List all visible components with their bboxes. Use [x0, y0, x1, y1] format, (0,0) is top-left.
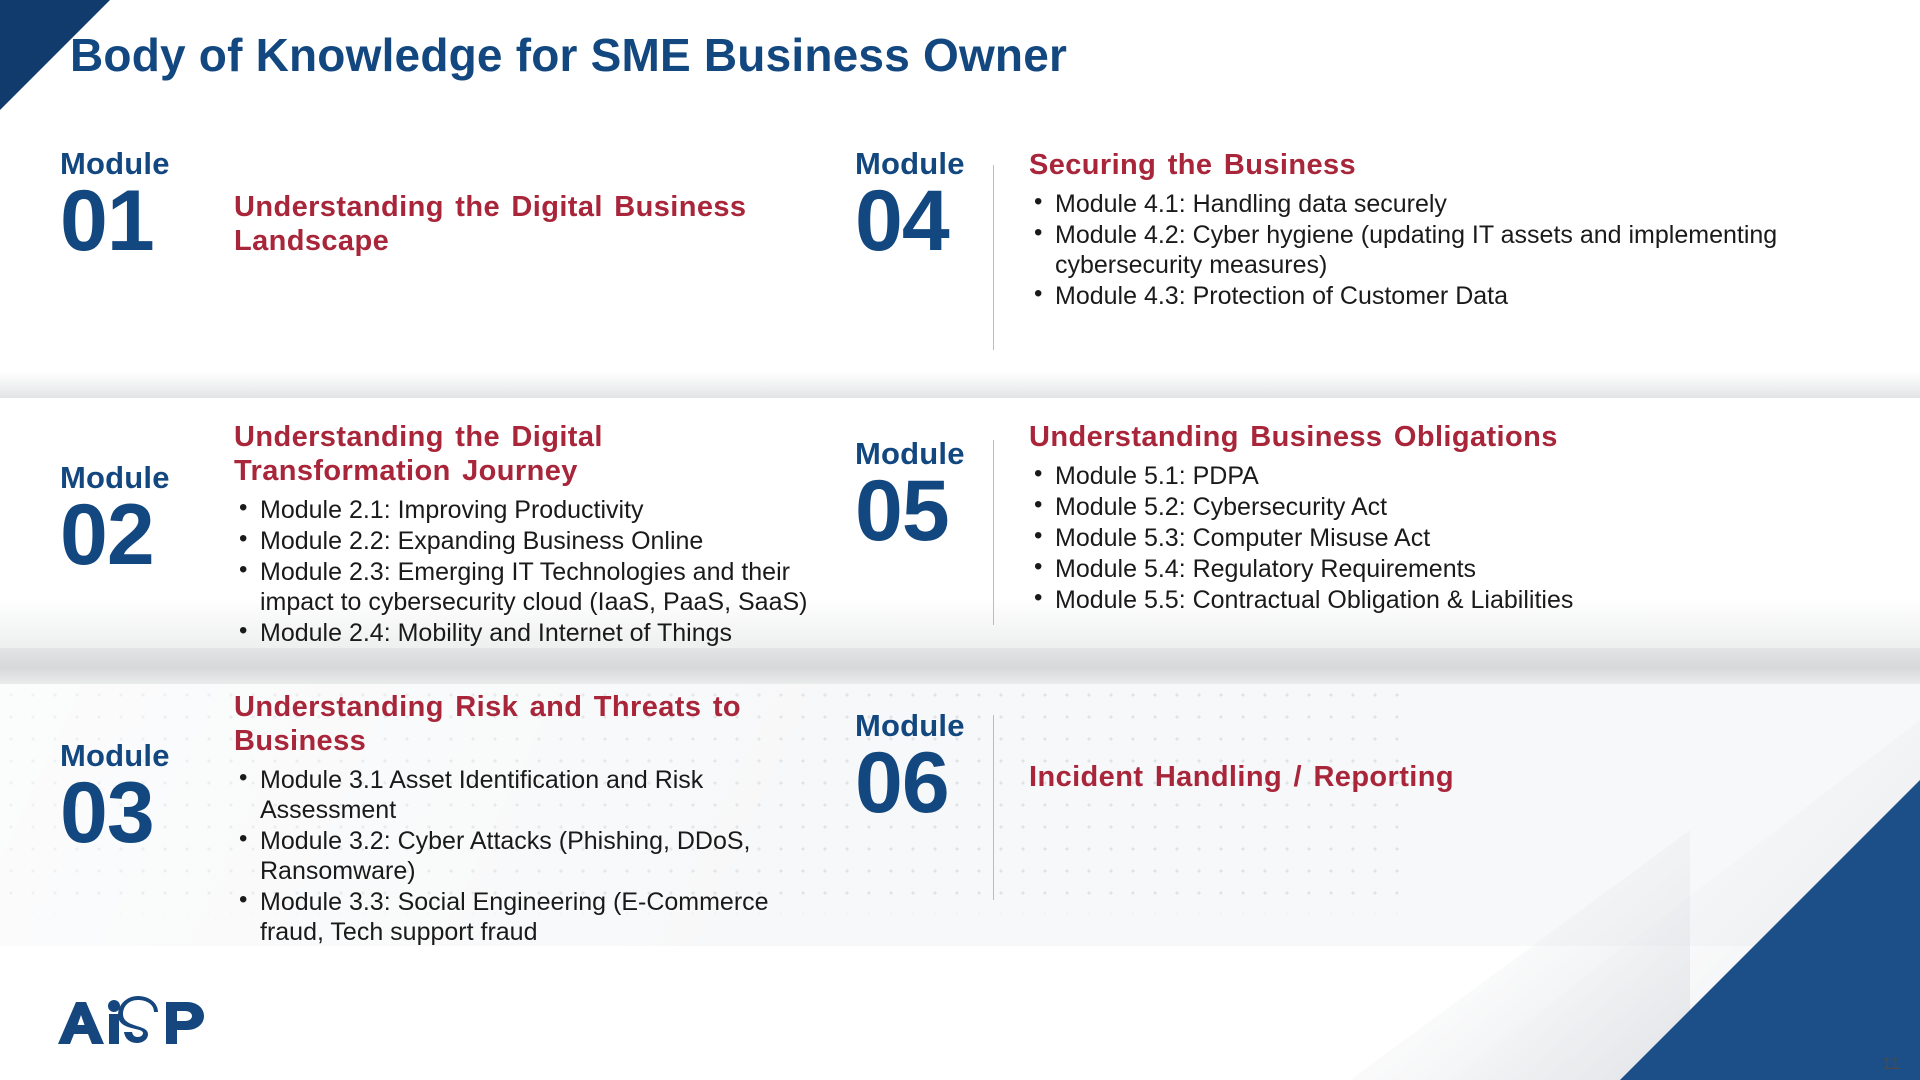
module-bullet-list: Module 4.1: Handling data securely Modul… — [1029, 189, 1855, 311]
list-item: Module 4.3: Protection of Customer Data — [1029, 281, 1855, 311]
list-item: Module 2.4: Mobility and Internet of Thi… — [234, 618, 820, 648]
module-number: 01 — [60, 179, 220, 263]
page-number: 11 — [1882, 1054, 1900, 1074]
module-bullet-list: Module 2.1: Improving Productivity Modul… — [234, 495, 820, 648]
module-column-left: Module 01 Understanding the Digital Busi… — [60, 120, 820, 948]
list-item: Module 5.1: PDPA — [1029, 461, 1855, 491]
list-item: Module 5.5: Contractual Obligation & Lia… — [1029, 585, 1855, 615]
module-number-block: Module 03 — [60, 690, 220, 855]
list-item: Module 2.2: Expanding Business Online — [234, 526, 820, 556]
list-item: Module 2.3: Emerging IT Technologies and… — [234, 557, 820, 617]
module-heading: Incident Handling / Reporting — [1029, 760, 1855, 794]
module-number: 02 — [60, 493, 220, 577]
module-number: 06 — [855, 741, 1015, 825]
module-body: Understanding Risk and Threats to Busine… — [220, 690, 820, 948]
module-body: Securing the Business Module 4.1: Handli… — [1015, 148, 1855, 312]
module-heading: Securing the Business — [1029, 148, 1855, 182]
list-item: Module 3.1 Asset Identification and Risk… — [234, 765, 820, 825]
module-card-02[interactable]: Module 02 Understanding the Digital Tran… — [60, 420, 820, 649]
module-number-block: Module 05 — [855, 420, 1015, 553]
list-item: Module 5.3: Computer Misuse Act — [1029, 523, 1855, 553]
page-title: Body of Knowledge for SME Business Owner — [70, 28, 1067, 82]
module-grid: Module 01 Understanding the Digital Busi… — [0, 120, 1920, 948]
aisp-logo — [54, 994, 244, 1050]
module-body: Understanding the Digital Business Lands… — [220, 148, 820, 265]
module-card-04[interactable]: Module 04 Securing the Business Module 4… — [855, 148, 1855, 312]
module-number-block: Module 02 — [60, 420, 220, 577]
list-item: Module 3.2: Cyber Attacks (Phishing, DDo… — [234, 826, 820, 886]
module-heading: Understanding the Digital Business Lands… — [234, 190, 820, 258]
module-number-block: Module 06 — [855, 690, 1015, 825]
module-number-block: Module 01 — [60, 148, 220, 263]
module-heading: Understanding Risk and Threats to Busine… — [234, 690, 820, 758]
list-item: Module 4.2: Cyber hygiene (updating IT a… — [1029, 220, 1855, 280]
list-item: Module 5.2: Cybersecurity Act — [1029, 492, 1855, 522]
list-item: Module 3.3: Social Engineering (E-Commer… — [234, 887, 820, 947]
module-number: 04 — [855, 179, 1015, 263]
module-heading: Understanding the Digital Transformation… — [234, 420, 820, 488]
presentation-slide: Body of Knowledge for SME Business Owner… — [0, 0, 1920, 1080]
list-item: Module 5.4: Regulatory Requirements — [1029, 554, 1855, 584]
module-column-right: Module 04 Securing the Business Module 4… — [855, 120, 1855, 948]
module-bullet-list: Module 5.1: PDPA Module 5.2: Cybersecuri… — [1029, 461, 1855, 615]
module-number: 05 — [855, 469, 1015, 553]
module-body: Understanding the Digital Transformation… — [220, 420, 820, 649]
module-card-05[interactable]: Module 05 Understanding Business Obligat… — [855, 420, 1855, 616]
module-number: 03 — [60, 771, 220, 855]
list-item: Module 4.1: Handling data securely — [1029, 189, 1855, 219]
list-item: Module 2.1: Improving Productivity — [234, 495, 820, 525]
module-heading: Understanding Business Obligations — [1029, 420, 1855, 454]
module-number-block: Module 04 — [855, 148, 1015, 263]
module-body: Understanding Business Obligations Modul… — [1015, 420, 1855, 616]
module-body: Incident Handling / Reporting — [1015, 690, 1855, 794]
module-card-03[interactable]: Module 03 Understanding Risk and Threats… — [60, 690, 820, 948]
module-card-06[interactable]: Module 06 Incident Handling / Reporting — [855, 690, 1855, 825]
module-card-01[interactable]: Module 01 Understanding the Digital Busi… — [60, 148, 820, 265]
module-bullet-list: Module 3.1 Asset Identification and Risk… — [234, 765, 820, 947]
